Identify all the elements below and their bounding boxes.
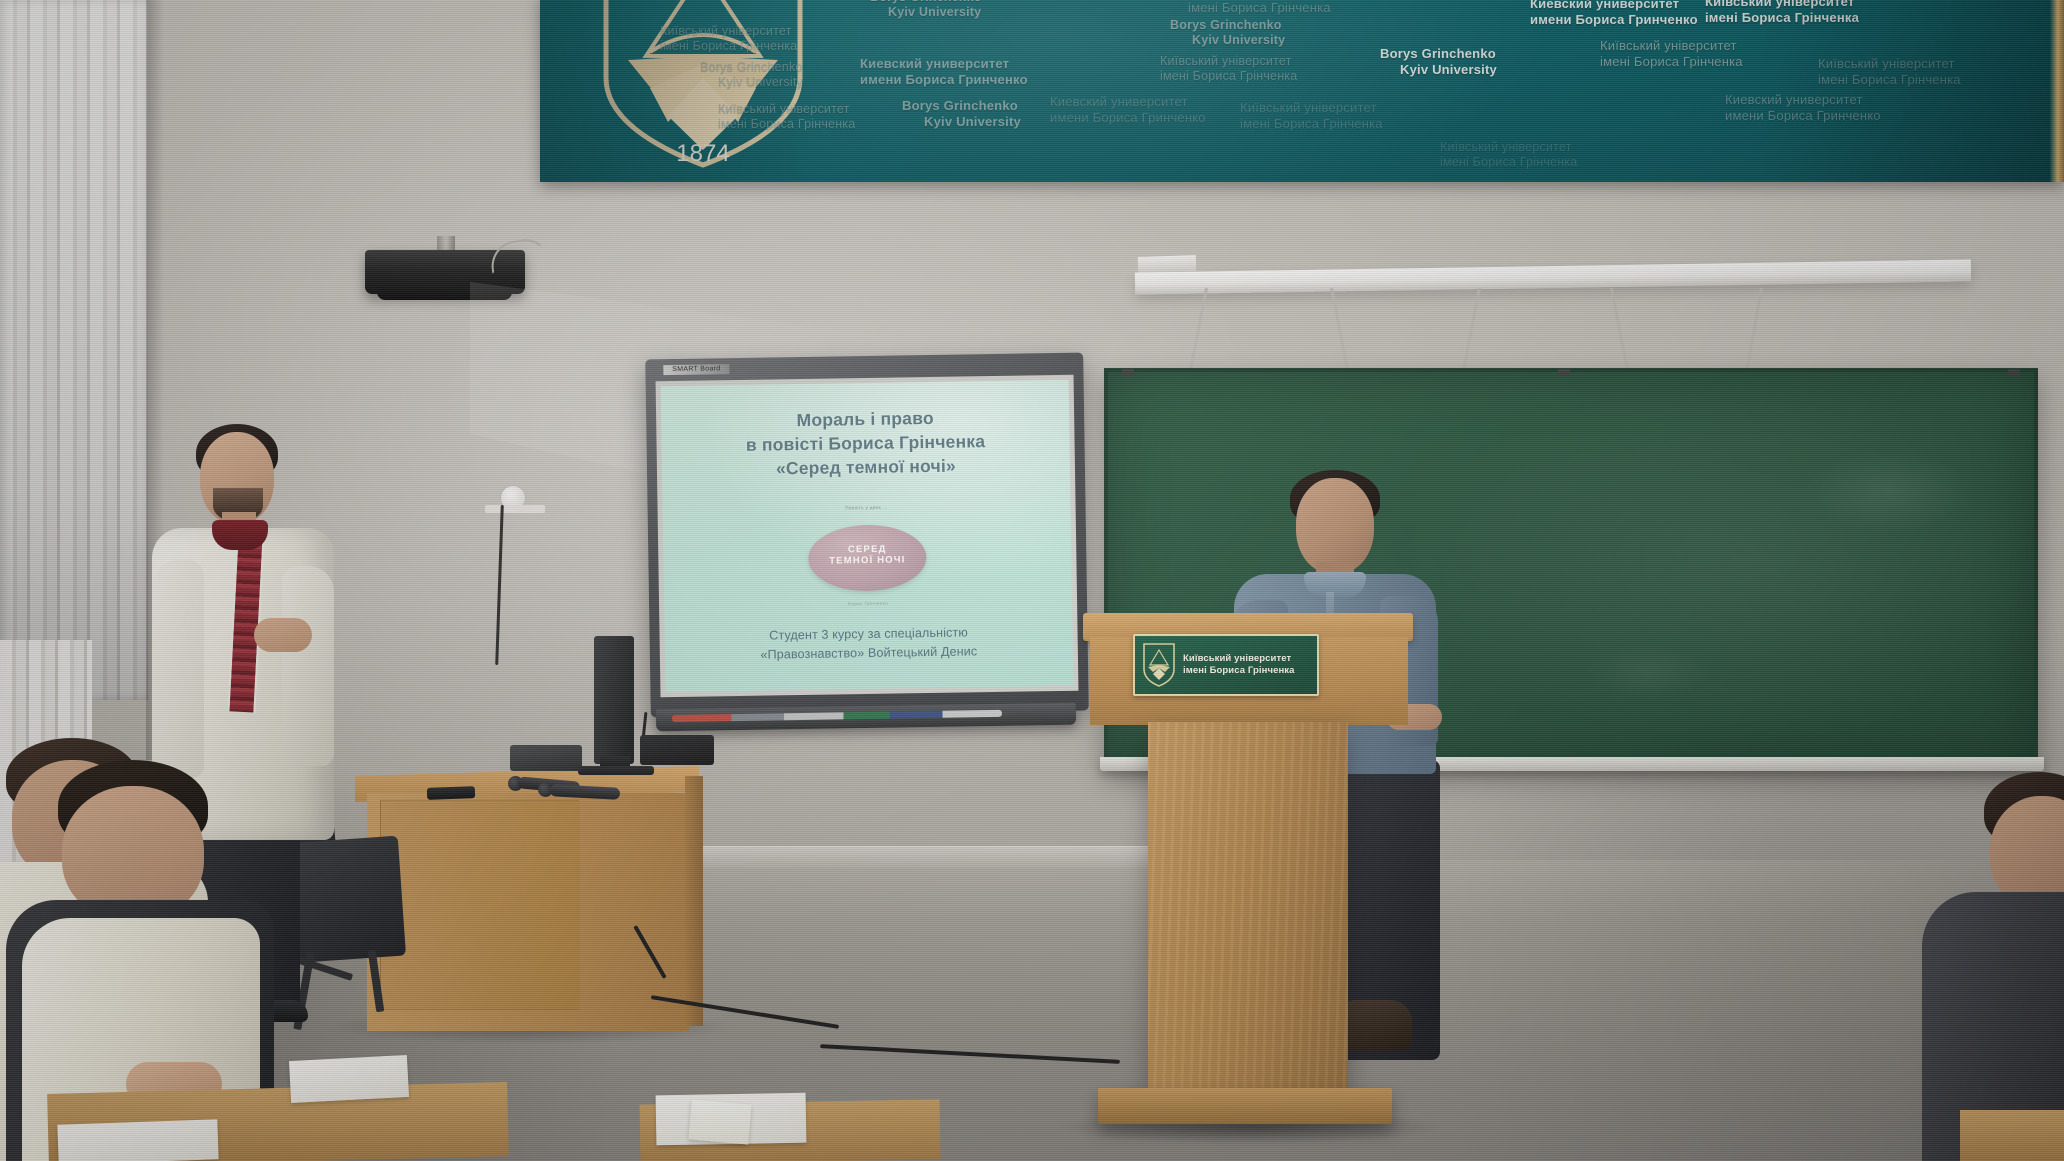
- banner-wordmark: Borys Grinchenko Kyiv University: [700, 60, 803, 91]
- banner-wordmark: Киевский университет имени Бориса Гринче…: [1050, 94, 1206, 126]
- monitor-base: [578, 766, 654, 775]
- plaque-crest-icon: [1141, 641, 1177, 689]
- banner-wordmark: Київський університет імені Бориса Грінч…: [718, 102, 855, 133]
- banner-wordmark: Київський університет імені Бориса Грінч…: [1600, 38, 1743, 70]
- presenter-shoe: [1338, 1000, 1412, 1050]
- instructor-embroidered-collar: [212, 520, 268, 550]
- podium-plaque: Київський університет імені Бориса Грінч…: [1133, 634, 1319, 696]
- socket-plate: [485, 505, 545, 513]
- banner-wordmark: Київський університет імені Бориса Грінч…: [1440, 140, 1577, 171]
- banner-wordmark: Borys Grinchenko Kyiv University: [870, 0, 982, 21]
- banner-wordmark: Київський університет імені Бориса Грінч…: [660, 24, 797, 55]
- slide-micro-caption-top: Повість у двох ...: [663, 502, 1071, 513]
- board-clip: [1122, 369, 1134, 376]
- projection-surface: Мораль і право в повісті Бориса Грінченк…: [656, 375, 1079, 698]
- slide-subtitle: Студент 3 курсу за спеціальністю «Правоз…: [664, 622, 1073, 666]
- paper-sheet: [688, 1099, 751, 1144]
- plaque-line-1: Київський університет: [1183, 653, 1295, 665]
- instructor-hands: [254, 618, 312, 652]
- banner-edge-trim: [2050, 0, 2064, 182]
- smart-board-brand-label: SMART Board: [663, 364, 729, 375]
- instructor-left-arm: [152, 560, 204, 778]
- smart-board[interactable]: SMART Board Мораль і право в повісті Бор…: [645, 353, 1089, 718]
- lecture-hall-photo: 1874 Київський університет імені Бориса …: [0, 0, 2064, 1161]
- paper-sheet: [289, 1055, 409, 1103]
- podium-column: [1148, 722, 1348, 1094]
- presentation-slide: Мораль і право в повісті Бориса Грінченк…: [661, 380, 1074, 692]
- plaque-line-2: імені Бориса Грінченка: [1183, 665, 1295, 677]
- book-cover-line-2: ТЕМНОЇ НОЧІ: [808, 555, 926, 567]
- book-cover-image: СЕРЕД ТЕМНОЇ НОЧІ: [808, 524, 927, 592]
- slide-title-line-3: «Серед темної ночі»: [662, 452, 1070, 483]
- book-cover-text: СЕРЕД ТЕМНОЇ НОЧІ: [808, 544, 926, 567]
- desk-side: [685, 776, 703, 1026]
- desk-panel: [380, 800, 580, 1010]
- banner-wordmark: Киевский университет имени Бориса Гринче…: [1530, 0, 1698, 28]
- wifi-router: [640, 735, 714, 765]
- instructor-right-arm: [282, 566, 334, 766]
- slide-title: Мораль і право в повісті Бориса Грінченк…: [661, 404, 1070, 483]
- board-clip: [2008, 369, 2020, 376]
- computer-monitor: [594, 636, 634, 764]
- student-desk: [1960, 1110, 2064, 1161]
- banner-wordmark: Київський університет імені Бориса Грінч…: [1188, 0, 1331, 16]
- device-box: [510, 745, 582, 771]
- presenter-head: [1296, 478, 1374, 574]
- presenter-collar: [1304, 572, 1366, 598]
- banner-wordmark: Киевский университет имени Бориса Гринче…: [860, 56, 1028, 88]
- podium-base: [1098, 1088, 1392, 1124]
- slide-micro-caption-bottom: Борис Грінченко: [664, 598, 1072, 609]
- light-fixture-end: [1138, 255, 1197, 273]
- banner-wordmark: Borys Grinchenko Kyiv University: [1380, 46, 1497, 78]
- mobile-phone[interactable]: [427, 786, 475, 800]
- banner-wordmark: Київський університет імені Бориса Грінч…: [1240, 100, 1383, 132]
- banner-wordmark: Киевский университет имени Бориса Гринче…: [1725, 92, 1881, 124]
- banner-wordmark: Київський університет імені Бориса Грінч…: [1160, 54, 1297, 85]
- paper-sheet: [57, 1119, 218, 1161]
- banner-wordmark: Київський університет імені Бориса Грінч…: [1705, 0, 1859, 26]
- banner-wordmark: Borys Grinchenko Kyiv University: [1170, 18, 1285, 49]
- blinds-shading: [0, 0, 148, 700]
- plaque-text: Київський університет імені Бориса Грінч…: [1183, 653, 1295, 677]
- university-banner: 1874 Київський університет імені Бориса …: [540, 0, 2064, 182]
- crest-year: 1874: [676, 140, 729, 167]
- banner-wordmark: Київський університет імені Бориса Грінч…: [1818, 56, 1961, 88]
- board-clip: [1558, 369, 1570, 376]
- banner-wordmark: Borys Grinchenko Kyiv University: [902, 98, 1021, 130]
- marker-pens[interactable]: [672, 710, 1002, 722]
